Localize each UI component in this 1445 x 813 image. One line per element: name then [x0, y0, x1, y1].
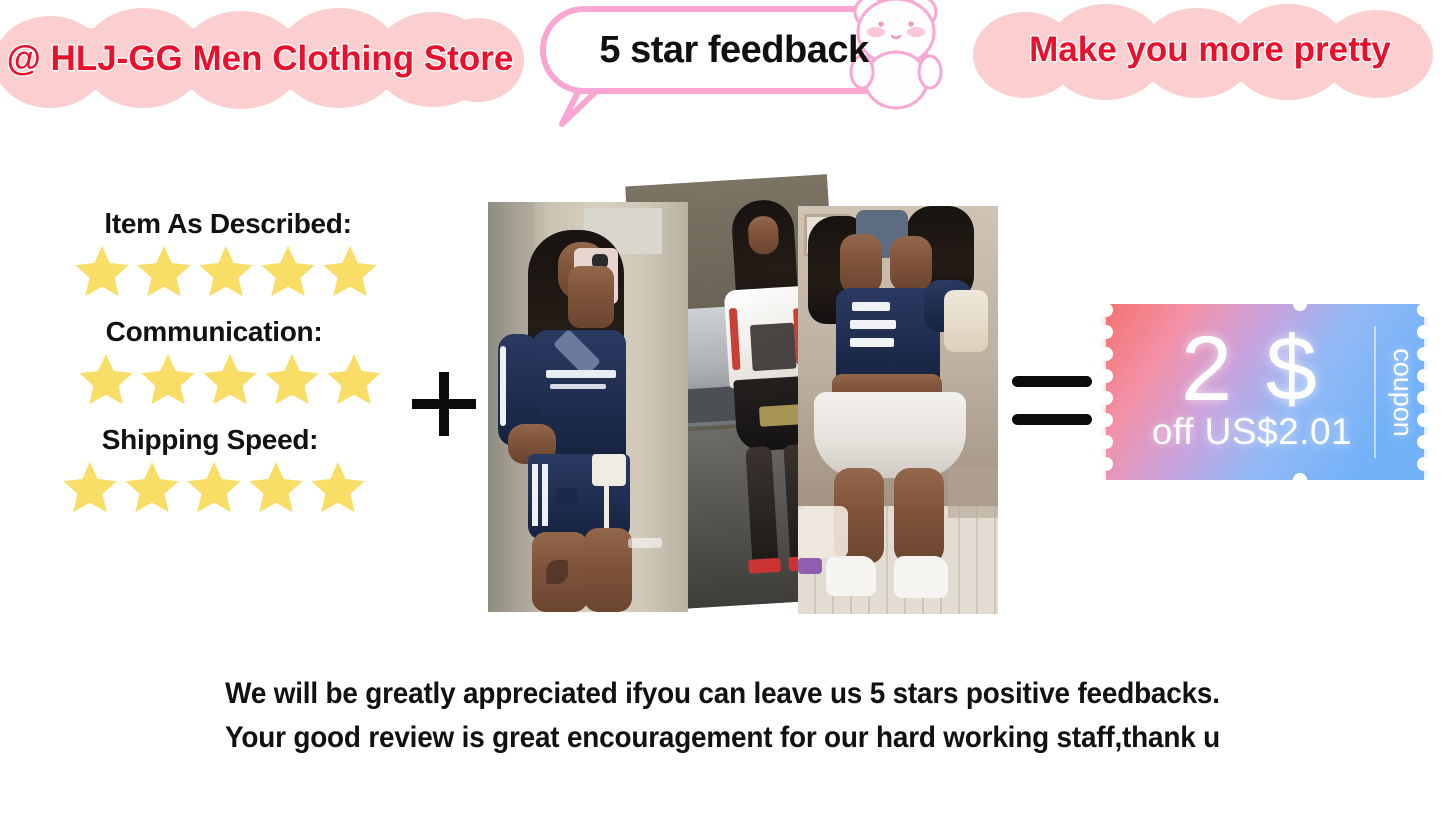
footer-line-1: We will be greatly appreciated ifyou can… — [51, 672, 1395, 716]
rating-row-item-as-described: ltem As Described: — [60, 208, 420, 300]
banner-left-label: @ HLJ-GG Men Clothing Store — [7, 39, 514, 79]
star-row — [72, 242, 420, 300]
star-icon — [122, 458, 182, 516]
banner-right-slogan: Make you more pretty — [975, 0, 1445, 100]
star-icon — [308, 458, 368, 516]
customer-photo-1 — [488, 202, 688, 612]
star-icon — [258, 242, 318, 300]
plus-sign-icon — [412, 372, 476, 436]
star-icon — [246, 458, 306, 516]
customer-photo-collage — [470, 178, 1015, 623]
customer-photo-3 — [798, 206, 998, 614]
coupon-vertical-label-wrap: coupon — [1380, 304, 1424, 480]
star-icon — [134, 242, 194, 300]
footer-line-2: Your good review is great encouragement … — [51, 716, 1395, 760]
star-icon — [138, 350, 198, 408]
poster-canvas: @ HLJ-GG Men Clothing Store 5 star feedb… — [0, 0, 1445, 813]
rating-row-communication: Communication: — [60, 316, 420, 408]
ratings-panel: ltem As Described: Communication: Shippi… — [60, 208, 420, 532]
footer-message: We will be greatly appreciated ifyou can… — [0, 672, 1445, 759]
rating-row-shipping-speed: Shipping Speed: — [60, 424, 420, 516]
star-icon — [262, 350, 322, 408]
rating-label: Communication: — [54, 316, 374, 348]
star-icon — [196, 242, 256, 300]
star-icon — [320, 242, 380, 300]
star-icon — [184, 458, 244, 516]
coupon-vertical-label: coupon — [1387, 348, 1418, 437]
star-icon — [60, 458, 120, 516]
rating-label: ltem As Described: — [68, 208, 388, 240]
rating-label: Shipping Speed: — [50, 424, 370, 456]
bubble-title: 5 star feedback — [540, 6, 928, 94]
banner-right-label: Make you more pretty — [1029, 30, 1391, 70]
star-row — [60, 458, 420, 516]
feedback-bubble: 5 star feedback — [540, 6, 945, 126]
star-icon — [72, 242, 132, 300]
banner-left-store: @ HLJ-GG Men Clothing Store — [0, 6, 520, 111]
coupon-card[interactable]: 2 $ off US$2.01 coupon — [1100, 304, 1430, 480]
star-icon — [324, 350, 384, 408]
equals-sign-icon — [1012, 368, 1096, 430]
coupon-divider — [1374, 326, 1376, 458]
star-icon — [200, 350, 260, 408]
star-row — [76, 350, 420, 408]
star-icon — [76, 350, 136, 408]
